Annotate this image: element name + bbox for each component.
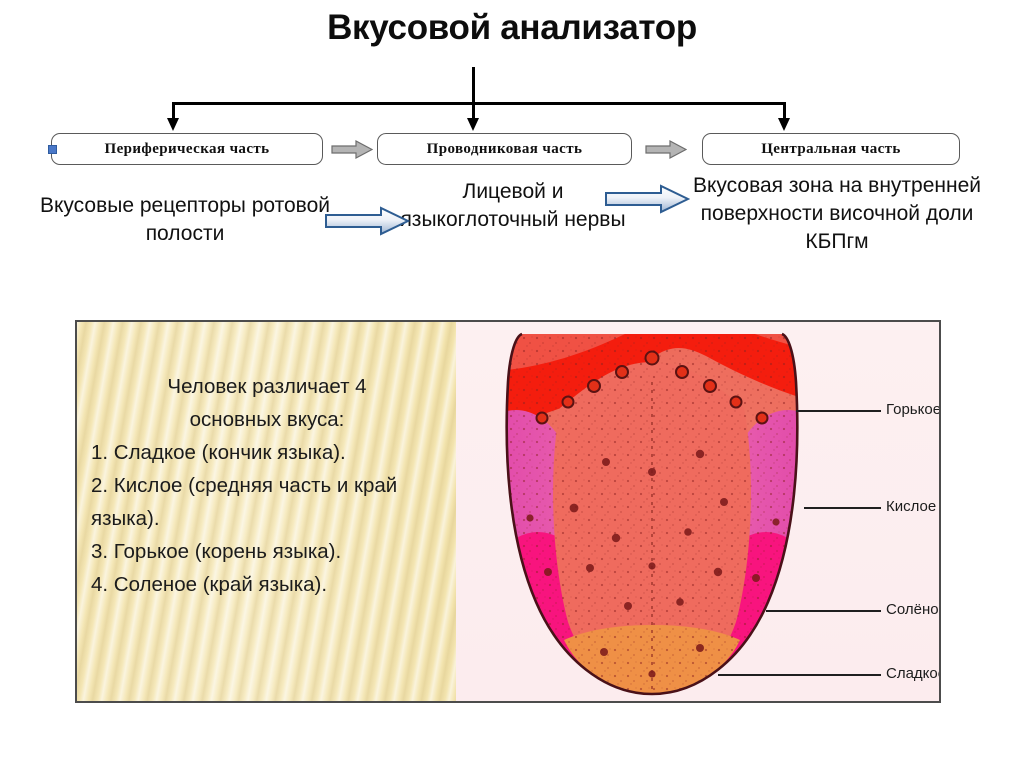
gray-arrow-1 (331, 140, 373, 159)
bottom-image-panel: Человек различает 4 основных вкуса: 1. С… (75, 320, 941, 703)
flow-box-peripheral[interactable]: Периферическая часть (51, 133, 323, 165)
flow-box-peripheral-label: Периферическая часть (105, 141, 270, 158)
description-central: Вкусовая зона на внутренней поверхности … (672, 172, 1002, 256)
leader-line-bitter (796, 410, 881, 412)
taste-item-bitter: 3. Горькое (корень языка). (91, 535, 443, 568)
slide-canvas: Вкусовой анализатор Периферическая часть… (0, 0, 1024, 767)
description-central-text: Вкусовая зона на внутренней поверхности … (693, 174, 981, 253)
description-peripheral-text: Вкусовые рецепторы ротовой полости (40, 194, 330, 245)
flow-box-conductive-label: Проводниковая часть (427, 141, 583, 158)
description-conductive-text: Лицевой и языкоглоточный нервы (400, 180, 625, 231)
tongue-taste-zones-diagram (456, 322, 939, 701)
description-peripheral: Вкусовые рецепторы ротовой полости (30, 192, 340, 248)
taste-item-salty: 4. Соленое (край языка). (91, 568, 443, 601)
description-conductive: Лицевой и языкоглоточный нервы (398, 178, 628, 234)
tongue-diagram-panel: Горькое Кислое Солёное Сладкое (456, 322, 939, 701)
leader-line-salty (766, 610, 881, 612)
zone-label-sour: Кислое (886, 498, 936, 515)
leader-line-sweet (718, 674, 881, 676)
taste-item-sour: 2. Кислое (средняя часть и край языка). (91, 469, 443, 535)
zone-label-sweet: Сладкое (886, 665, 941, 682)
flow-box-central-label: Центральная часть (761, 141, 901, 158)
tree-arrowheads (0, 0, 1024, 135)
leader-line-sour (804, 507, 881, 509)
blue-arrow-2 (604, 184, 690, 214)
tastes-text-panel: Человек различает 4 основных вкуса: 1. С… (77, 322, 456, 701)
gray-arrow-2 (645, 140, 687, 159)
flow-box-central[interactable]: Центральная часть (702, 133, 960, 165)
selection-handle[interactable] (48, 145, 57, 154)
tastes-heading-line-2: основных вкуса: (91, 403, 443, 436)
tastes-heading-line-1: Человек различает 4 (91, 370, 443, 403)
flow-box-conductive[interactable]: Проводниковая часть (377, 133, 632, 165)
zone-label-bitter: Горькое (886, 401, 941, 418)
blue-arrow-1 (324, 206, 410, 236)
taste-item-sweet: 1. Сладкое (кончик языка). (91, 436, 443, 469)
zone-label-salty: Солёное (886, 601, 941, 618)
tastes-text-block: Человек различает 4 основных вкуса: 1. С… (91, 370, 443, 601)
